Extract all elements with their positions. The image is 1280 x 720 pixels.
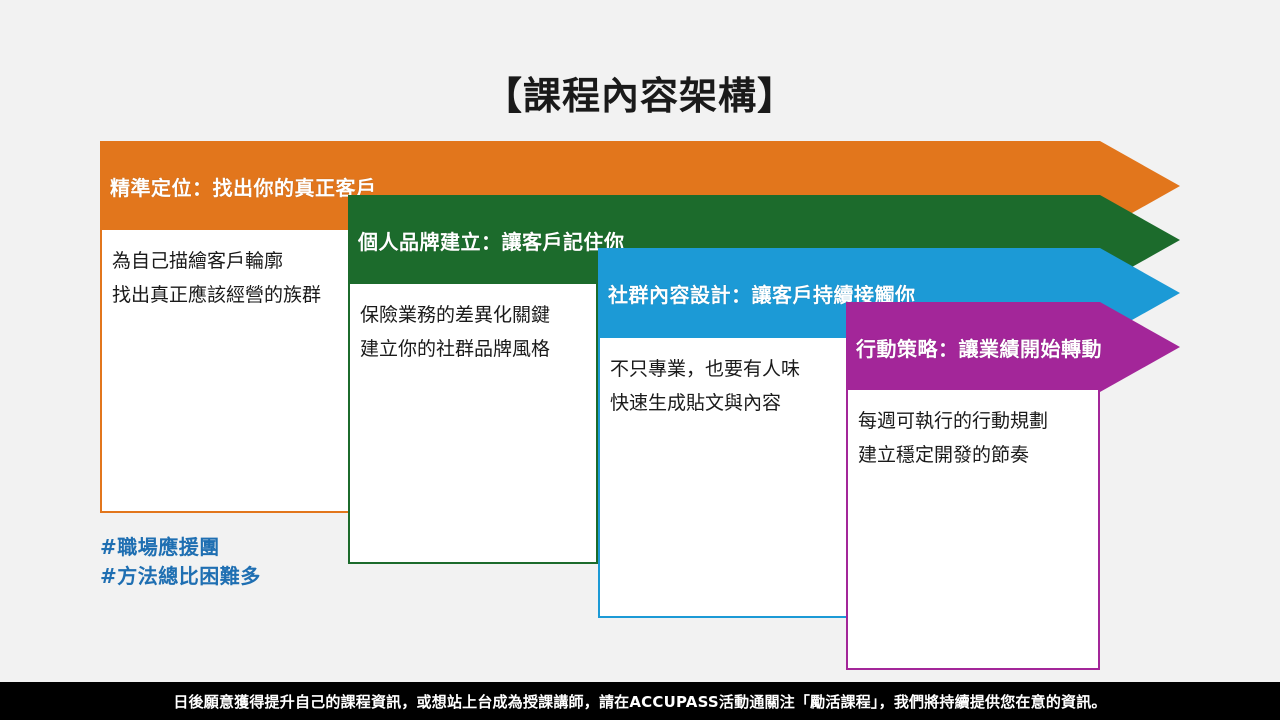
arrow-band-label-section-2: 個人品牌建立：讓客戶記住你 xyxy=(358,195,625,285)
slide-canvas: 【課程內容架構】 精準定位：找出你的真正客戶 為自己描繪客戶輪廓 找出真正應該經… xyxy=(0,0,1280,720)
content-box-section-4: 每週可執行的行動規劃 建立穩定開發的節奏 xyxy=(846,388,1100,670)
arrow-band-label-section-4: 行動策略：讓業績開始轉動 xyxy=(856,302,1102,392)
footer-text: 日後願意獲得提升自己的課程資訊，或想站上台成為授課講師，請在ACCUPASS活動… xyxy=(173,691,1106,712)
content-box-section-2: 保險業務的差異化關鍵 建立你的社群品牌風格 xyxy=(348,282,598,564)
content-box-section-1: 為自己描繪客戶輪廓 找出真正應該經營的族群 xyxy=(100,228,350,513)
content-text-section-1: 為自己描繪客戶輪廓 找出真正應該經營的族群 xyxy=(112,244,340,312)
hashtag-list: #職場應援團 #方法總比困難多 xyxy=(100,533,261,591)
content-text-section-3: 不只專業，也要有人味 快速生成貼文與內容 xyxy=(610,352,838,420)
content-box-section-3: 不只專業，也要有人味 快速生成貼文與內容 xyxy=(598,336,848,618)
content-text-section-4: 每週可執行的行動規劃 建立穩定開發的節奏 xyxy=(858,404,1090,472)
arrow-band-label-section-1: 精準定位：找出你的真正客戶 xyxy=(110,141,377,231)
footer-banner: 日後願意獲得提升自己的課程資訊，或想站上台成為授課講師，請在ACCUPASS活動… xyxy=(0,682,1280,720)
page-title: 【課程內容架構】 xyxy=(0,76,1280,118)
content-text-section-2: 保險業務的差異化關鍵 建立你的社群品牌風格 xyxy=(360,298,588,366)
arrow-band-section-4: 行動策略：讓業績開始轉動 xyxy=(846,302,1180,392)
